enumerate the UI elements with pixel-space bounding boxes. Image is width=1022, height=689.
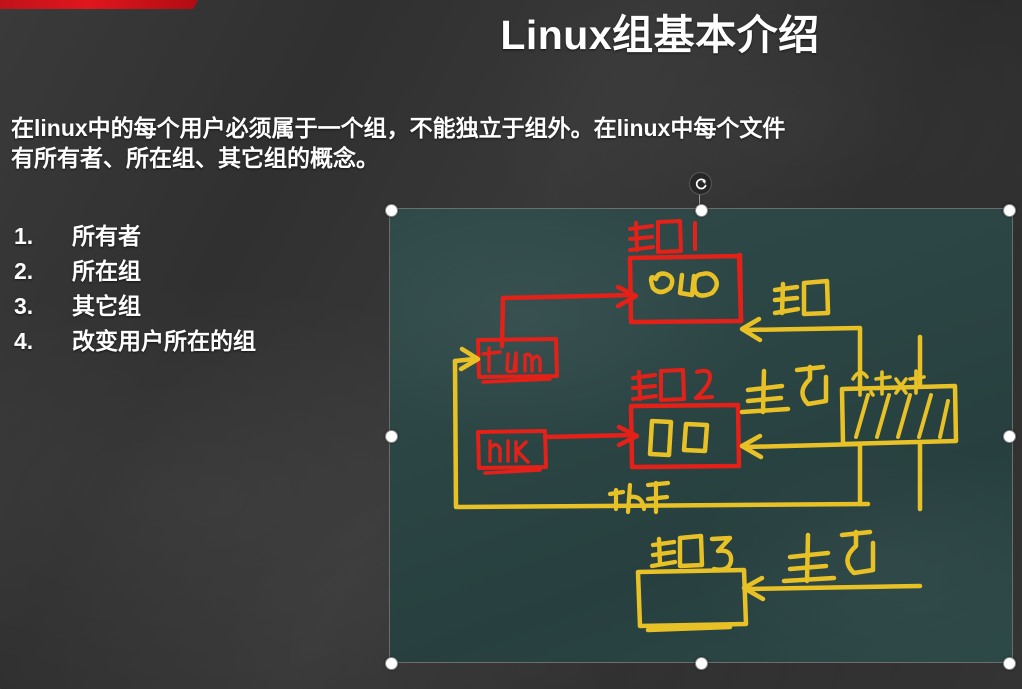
handle-top-right[interactable]: [1003, 204, 1016, 217]
paragraph-line-1: 在linux中的每个用户必须属于一个组，不能独立于组外。在linux中每个文件: [11, 113, 1011, 143]
handle-middle-right[interactable]: [1003, 430, 1016, 443]
list-item: 3. 其它组: [14, 289, 374, 324]
list-item-number: 4.: [14, 324, 72, 359]
yellow-chalk-layer: [455, 273, 956, 630]
rotate-icon[interactable]: [689, 172, 712, 195]
selected-picture[interactable]: 组1组2组3组其它其它所有a.txttummrkᴏᴜᴏᴏᴏ: [390, 209, 1012, 662]
list-item: 1. 所有者: [14, 219, 374, 254]
handle-bottom-left[interactable]: [385, 657, 398, 670]
rotate-glyph: [694, 177, 708, 191]
handle-bottom-center[interactable]: [695, 657, 708, 670]
list-item-number: 3.: [14, 289, 72, 324]
handle-top-center[interactable]: [695, 204, 708, 217]
chalkboard-diagram: 组1组2组3组其它其它所有a.txttummrkᴏᴜᴏᴏᴏ: [390, 209, 1012, 662]
list-item-label: 所在组: [72, 254, 141, 289]
accent-bar: [0, 0, 198, 9]
page-title: Linux组基本介绍: [310, 12, 1010, 60]
list-item: 2. 所在组: [14, 254, 374, 289]
list-item-number: 1.: [14, 219, 72, 254]
list-item-label: 改变用户所在的组: [72, 324, 256, 359]
list-item-label: 所有者: [72, 219, 141, 254]
paragraph-line-2: 有所有者、所在组、其它组的概念。: [11, 143, 1011, 173]
body-paragraph: 在linux中的每个用户必须属于一个组，不能独立于组外。在linux中每个文件 …: [11, 113, 1011, 174]
handle-middle-left[interactable]: [385, 430, 398, 443]
list-item-label: 其它组: [72, 289, 141, 324]
list-item: 4. 改变用户所在的组: [14, 324, 374, 359]
list-item-number: 2.: [14, 254, 72, 289]
numbered-list: 1. 所有者 2. 所在组 3. 其它组 4. 改变用户所在的组: [14, 219, 374, 359]
handle-top-left[interactable]: [385, 204, 398, 217]
red-chalk-layer: [478, 221, 741, 473]
handle-bottom-right[interactable]: [1003, 657, 1016, 670]
chalkboard-photo[interactable]: 组1组2组3组其它其它所有a.txttummrkᴏᴜᴏᴏᴏ: [390, 209, 1012, 662]
